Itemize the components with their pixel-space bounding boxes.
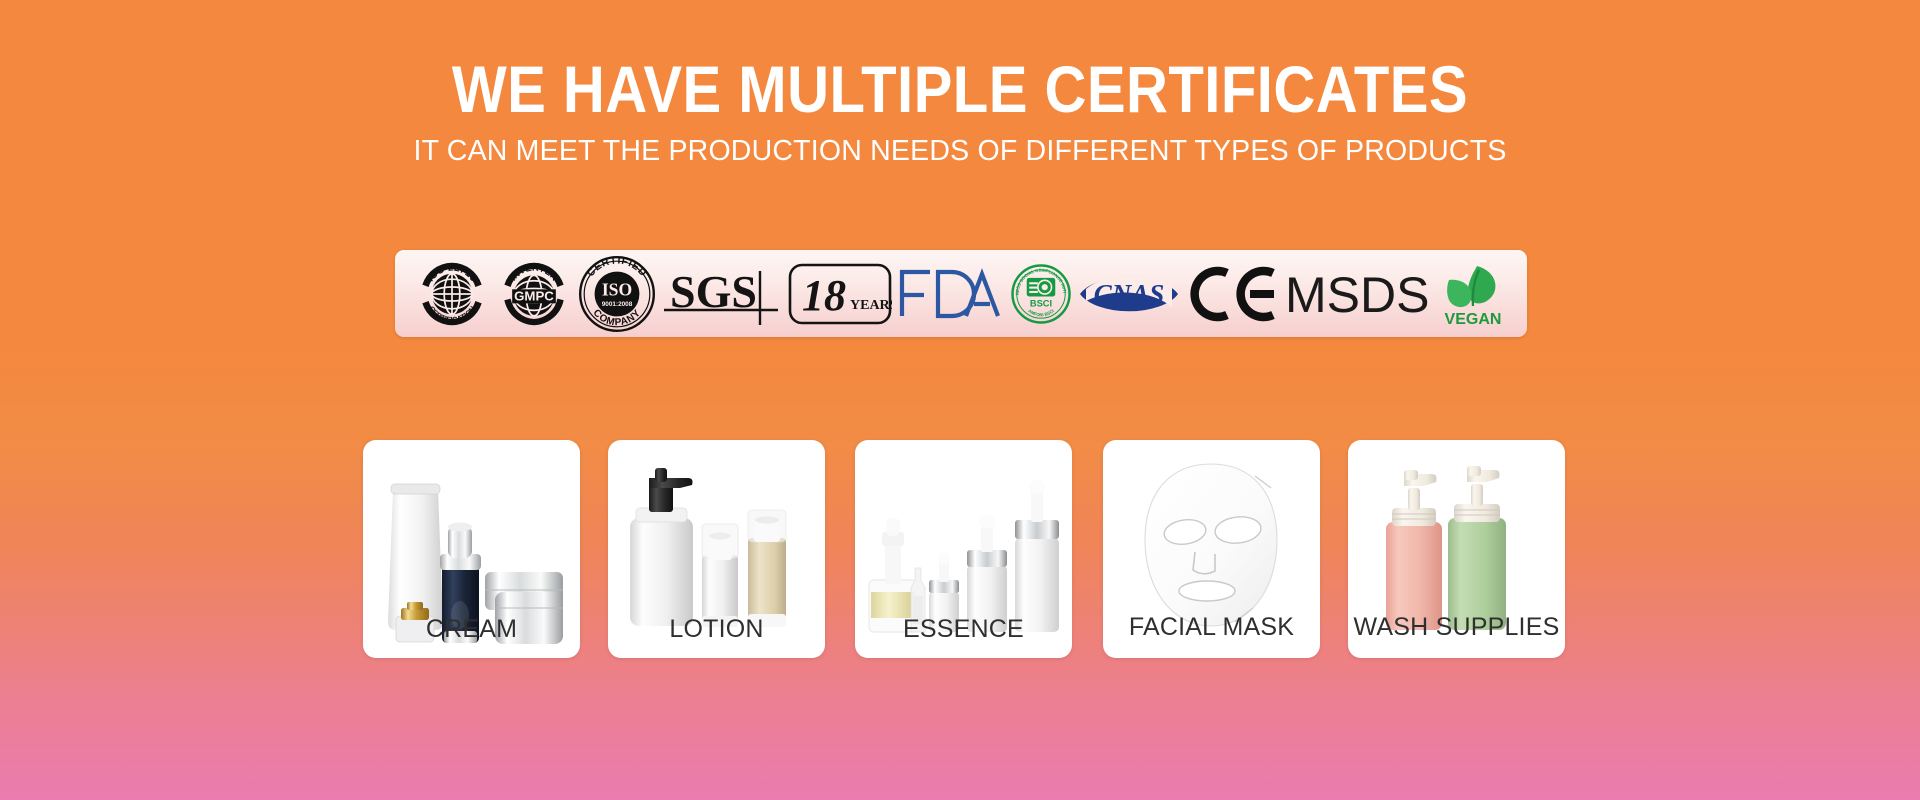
certificate-msds: MSDS	[1283, 250, 1433, 337]
cert-iso9001-center-text: ISO	[602, 279, 632, 299]
cert-18years-number: 18	[802, 271, 846, 320]
product-cards-row: CREAM	[0, 440, 1920, 730]
product-card-label: LOTION	[669, 615, 763, 644]
product-card-label: CREAM	[426, 615, 517, 644]
bsci-seal-icon: BSCI BUSINESS SOCIAL COMPLIANCE INITIATI…	[1010, 263, 1072, 325]
page-subtitle: IT CAN MEET THE PRODUCTION NEEDS OF DIFF…	[0, 135, 1920, 168]
eighteen-years-badge-icon: 18 YEARS	[788, 263, 892, 325]
cert-vegan-label: VEGAN	[1444, 311, 1501, 328]
certificate-vegan: VEGAN	[1437, 250, 1509, 337]
product-card-wash-supplies[interactable]: WASH SUPPLIES	[1348, 440, 1565, 658]
ce-mark-icon: CE	[1187, 263, 1279, 325]
cert-msds-label: MSDS	[1285, 267, 1429, 323]
product-card-facial-mask[interactable]: FACIAL MASK	[1103, 440, 1320, 658]
product-card-essence[interactable]: ESSENCE	[855, 440, 1072, 658]
product-card-label: WASH SUPPLIES	[1354, 613, 1560, 642]
product-card-label: ESSENCE	[903, 615, 1024, 644]
cert-18years-label: YEARS	[850, 298, 892, 313]
fda-wordmark-icon: FDA	[896, 266, 1006, 322]
certificate-ce: CE	[1187, 250, 1279, 337]
product-card-label: FACIAL MASK	[1129, 613, 1294, 642]
cert-cnas-label: CNAS	[1094, 279, 1165, 309]
intertek-gmpc-globe-icon: GMPC INTERTEK	[495, 255, 573, 333]
product-card-lotion[interactable]: LOTION	[608, 440, 825, 658]
certificate-iso-22716: ISO 22716 CERTIFICATION	[413, 250, 491, 337]
certificate-sgs: SGS	[662, 250, 784, 337]
certificate-cnas: CNAS	[1076, 250, 1182, 337]
msds-wordmark-icon: MSDS	[1283, 265, 1433, 323]
cert-gmpc-center-text: GMPC	[514, 288, 554, 303]
cert-iso9001-sub-text: 9001:2008	[602, 301, 633, 308]
iso-22716-globe-icon: ISO 22716 CERTIFICATION	[413, 255, 491, 333]
iso-9001-seal-icon: ISO 9001:2008 CERTIFIED COMPANY	[577, 254, 657, 334]
sgs-wordmark-icon: SGS	[662, 259, 784, 329]
product-card-cream[interactable]: CREAM	[363, 440, 580, 658]
certificate-fda: FDA	[896, 250, 1006, 337]
page-title: WE HAVE MULTIPLE CERTIFICATES	[115, 56, 1805, 123]
cnas-wordmark-icon: CNAS	[1076, 263, 1182, 325]
certificate-bsci: BSCI BUSINESS SOCIAL COMPLIANCE INITIATI…	[1010, 250, 1072, 337]
banner-heading-block: WE HAVE MULTIPLE CERTIFICATES IT CAN MEE…	[0, 56, 1920, 168]
certificate-iso-9001: ISO 9001:2008 CERTIFIED COMPANY	[577, 250, 657, 337]
vegan-leaf-icon: VEGAN	[1437, 258, 1509, 330]
certificate-18-years: 18 YEARS	[788, 250, 892, 337]
cert-bsci-label: BSCI	[1030, 298, 1052, 308]
certificates-strip: ISO 22716 CERTIFICATION GMPC INTERTEK	[395, 250, 1527, 337]
certificate-gmpc: GMPC INTERTEK	[495, 250, 573, 337]
